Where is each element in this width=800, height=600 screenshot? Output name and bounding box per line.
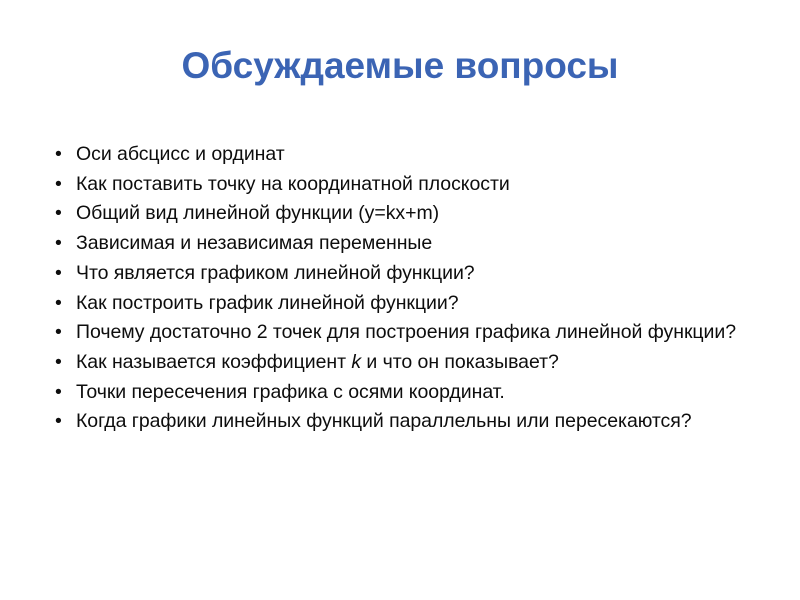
list-item: • Почему достаточно 2 точек для построен… <box>52 318 764 348</box>
bullet-icon: • <box>55 289 69 319</box>
list-item-text: Точки пересечения графика с осями коорди… <box>76 378 764 408</box>
bullet-icon: • <box>55 259 69 289</box>
bullet-icon: • <box>55 140 69 170</box>
list-item: • Зависимая и независимая переменные <box>52 229 764 259</box>
list-item-text: Как построить график линейной функции? <box>76 289 764 319</box>
page-title: Обсуждаемые вопросы <box>40 44 760 88</box>
math-variable-k: k <box>351 351 361 373</box>
list-item-text: Зависимая и независимая переменные <box>76 229 764 259</box>
bullet-icon: • <box>55 199 69 229</box>
list-item: • Что является графиком линейной функции… <box>52 259 764 289</box>
list-item: • Как поставить точку на координатной пл… <box>52 170 764 200</box>
bullet-list: • Оси абсцисс и ординат • Как поставить … <box>52 140 764 437</box>
list-item: • Общий вид линейной функции (y=kx+m) <box>52 199 764 229</box>
list-item-text: Что является графиком линейной функции? <box>76 259 764 289</box>
bullet-icon: • <box>55 318 69 348</box>
bullet-icon: • <box>55 348 69 378</box>
list-item-text: Оси абсцисс и ординат <box>76 140 764 170</box>
bullet-icon: • <box>55 229 69 259</box>
list-item-text-before: Как называется коэффициент <box>76 351 351 373</box>
list-item-text: Как поставить точку на координатной плос… <box>76 170 764 200</box>
presentation-slide: Обсуждаемые вопросы • Оси абсцисс и орди… <box>0 0 800 600</box>
list-item-text: Как называется коэффициент k и что он по… <box>76 348 764 378</box>
list-item: • Как называется коэффициент k и что он … <box>52 348 764 378</box>
bullet-icon: • <box>55 170 69 200</box>
list-item: • Точки пересечения графика с осями коор… <box>52 378 764 408</box>
list-item-text-after: и что он показывает? <box>361 351 559 373</box>
bullet-icon: • <box>55 407 69 437</box>
list-item-text: Общий вид линейной функции (y=kx+m) <box>76 199 764 229</box>
list-item-text: Почему достаточно 2 точек для построения… <box>76 318 764 348</box>
bullet-icon: • <box>55 378 69 408</box>
list-item: • Когда графики линейных функций паралле… <box>52 407 764 437</box>
list-item-text: Когда графики линейных функций параллель… <box>76 407 764 437</box>
list-item: • Как построить график линейной функции? <box>52 289 764 319</box>
list-item: • Оси абсцисс и ординат <box>52 140 764 170</box>
